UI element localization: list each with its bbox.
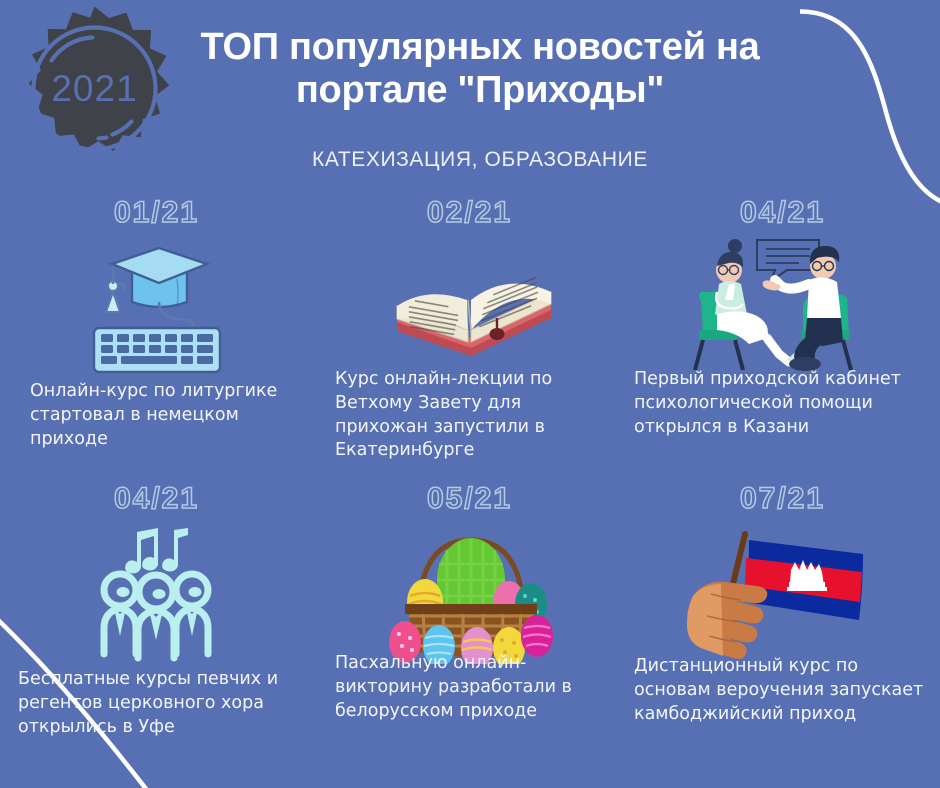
item-number: 01/21 (0, 196, 313, 230)
item-caption: Дистанционный курс по основам вероучения… (634, 655, 934, 726)
item-caption: Бесплатные курсы певчих и регентов церко… (18, 668, 313, 739)
page-title: ТОП популярных новостей на портале "Прих… (130, 26, 830, 113)
news-row: 04/21 (0, 480, 940, 770)
item-number: 05/21 (313, 482, 626, 516)
news-item[interactable]: 07/21 (626, 480, 939, 770)
news-row: 01/21 (0, 190, 940, 480)
news-item[interactable]: 04/21 (0, 480, 313, 770)
counseling-session-icon (626, 234, 939, 374)
page-subtitle: КАТЕХИЗАЦИЯ, ОБРАЗОВАНИЕ (130, 148, 830, 172)
item-number: 04/21 (0, 482, 313, 516)
item-number: 02/21 (313, 196, 626, 230)
news-grid: 01/21 (0, 190, 940, 788)
header: 2021 ТОП популярных новостей на портале … (0, 0, 940, 190)
item-caption: Курс онлайн-лекции по Ветхому Завету для… (335, 368, 610, 463)
item-caption: Онлайн-курс по литургике стартовал в нем… (30, 380, 290, 451)
open-book-icon (313, 234, 626, 374)
news-item[interactable]: 05/21 (313, 480, 626, 770)
item-number: 07/21 (626, 482, 939, 516)
easter-basket-eggs-icon (313, 524, 626, 664)
item-caption: Пасхальную онлайн-викторину разработали … (335, 652, 600, 723)
news-item[interactable]: 01/21 (0, 190, 313, 480)
news-item[interactable]: 04/21 (626, 190, 939, 480)
choir-singers-icon (0, 524, 313, 664)
graduation-cap-keyboard-icon (0, 234, 313, 374)
infographic-canvas: 2021 ТОП популярных новостей на портале … (0, 0, 940, 788)
item-caption: Первый приходской кабинет психологическо… (634, 368, 934, 439)
news-item[interactable]: 02/21 (313, 190, 626, 480)
item-number: 04/21 (626, 196, 939, 230)
hand-holding-cambodia-flag-icon (626, 524, 939, 664)
